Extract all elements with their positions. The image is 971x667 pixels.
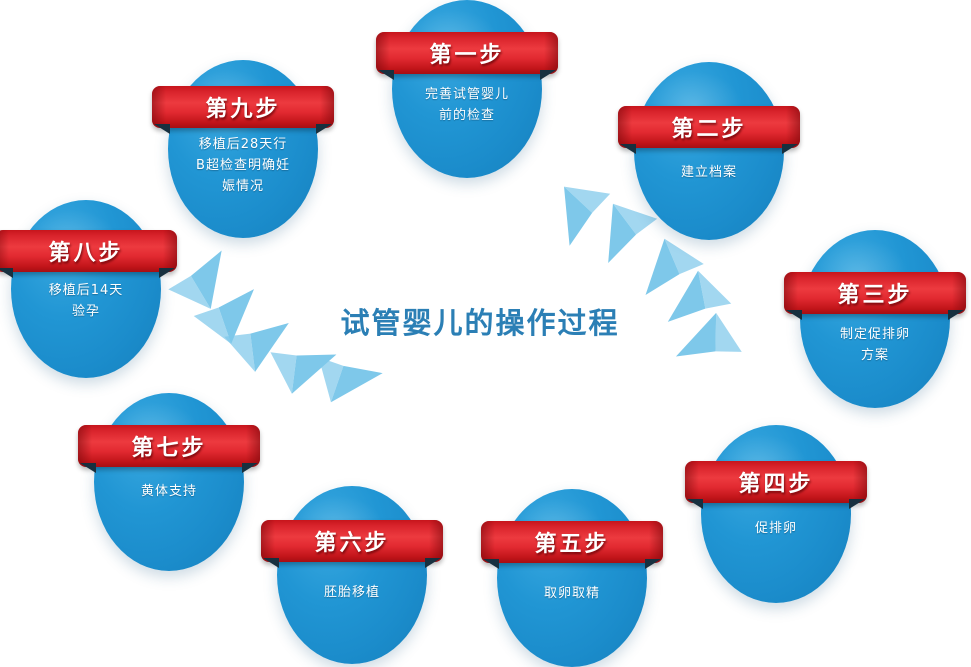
- ribbon-body: 第二步: [618, 106, 800, 148]
- step-badge-label: 第六步: [314, 525, 389, 557]
- step-badge-label: 第一步: [429, 37, 504, 69]
- step-ribbon: 第二步: [618, 106, 800, 148]
- ribbon-body: 第六步: [261, 520, 443, 562]
- step-description: 移植后28天行 B超检查明确妊 娠情况: [176, 134, 310, 197]
- step-bubble: [634, 62, 784, 240]
- diagram-title: 试管婴儿的操作过程: [300, 300, 660, 342]
- infographic-canvas: 第一步完善试管婴儿 前的检查第二步建立档案第三步制定促排卵 方案第四步促排卵第五…: [0, 0, 971, 667]
- step-badge-label: 第四步: [738, 466, 813, 498]
- step-ribbon: 第三步: [784, 272, 966, 314]
- step-badge-label: 第八步: [48, 235, 123, 267]
- step-node-1[interactable]: 第一步完善试管婴儿 前的检查: [392, 0, 542, 178]
- step-badge-label: 第五步: [534, 526, 609, 558]
- step-ribbon: 第八步: [0, 230, 177, 272]
- ribbon-fold-right: [540, 70, 556, 80]
- step-ribbon: 第五步: [481, 521, 663, 563]
- step-node-9[interactable]: 第九步移植后28天行 B超检查明确妊 娠情况: [168, 60, 318, 238]
- ribbon-body: 第四步: [685, 461, 867, 503]
- step-badge-label: 第二步: [671, 111, 746, 143]
- ribbon-fold-right: [849, 499, 865, 509]
- step-ribbon: 第一步: [376, 32, 558, 74]
- ribbon-fold-right: [645, 559, 661, 569]
- ribbon-body: 第九步: [152, 86, 334, 128]
- ribbon-body: 第七步: [78, 425, 260, 467]
- ribbon-fold-right: [948, 310, 964, 320]
- step-badge-label: 第九步: [205, 91, 280, 123]
- step-description: 取卵取精: [505, 583, 639, 604]
- step-node-3[interactable]: 第三步制定促排卵 方案: [800, 230, 950, 408]
- step-description: 黄体支持: [102, 481, 236, 502]
- step-node-8[interactable]: 第八步移植后14天 验孕: [11, 200, 161, 378]
- ribbon-body: 第一步: [376, 32, 558, 74]
- step-description: 建立档案: [642, 162, 776, 183]
- ribbon-body: 第八步: [0, 230, 177, 272]
- ribbon-body: 第五步: [481, 521, 663, 563]
- step-ribbon: 第九步: [152, 86, 334, 128]
- step-bubble: [277, 486, 427, 664]
- step-ribbon: 第六步: [261, 520, 443, 562]
- step-description: 制定促排卵 方案: [808, 324, 942, 366]
- step-ribbon: 第四步: [685, 461, 867, 503]
- step-badge-label: 第三步: [837, 277, 912, 309]
- step-description: 完善试管婴儿 前的检查: [400, 84, 534, 126]
- step-node-6[interactable]: 第六步胚胎移植: [277, 486, 427, 664]
- ribbon-body: 第三步: [784, 272, 966, 314]
- step-bubble: [497, 489, 647, 667]
- step-node-7[interactable]: 第七步黄体支持: [94, 393, 244, 571]
- step-ribbon: 第七步: [78, 425, 260, 467]
- step-bubble: [800, 230, 950, 408]
- ribbon-fold-right: [782, 144, 798, 154]
- step-bubble: [701, 425, 851, 603]
- step-badge-label: 第七步: [131, 430, 206, 462]
- step-description: 促排卵: [709, 518, 843, 539]
- step-node-2[interactable]: 第二步建立档案: [634, 62, 784, 240]
- step-description: 胚胎移植: [285, 582, 419, 603]
- step-node-4[interactable]: 第四步促排卵: [701, 425, 851, 603]
- step-description: 移植后14天 验孕: [19, 280, 153, 322]
- ribbon-fold-left: [0, 268, 13, 278]
- step-node-5[interactable]: 第五步取卵取精: [497, 489, 647, 667]
